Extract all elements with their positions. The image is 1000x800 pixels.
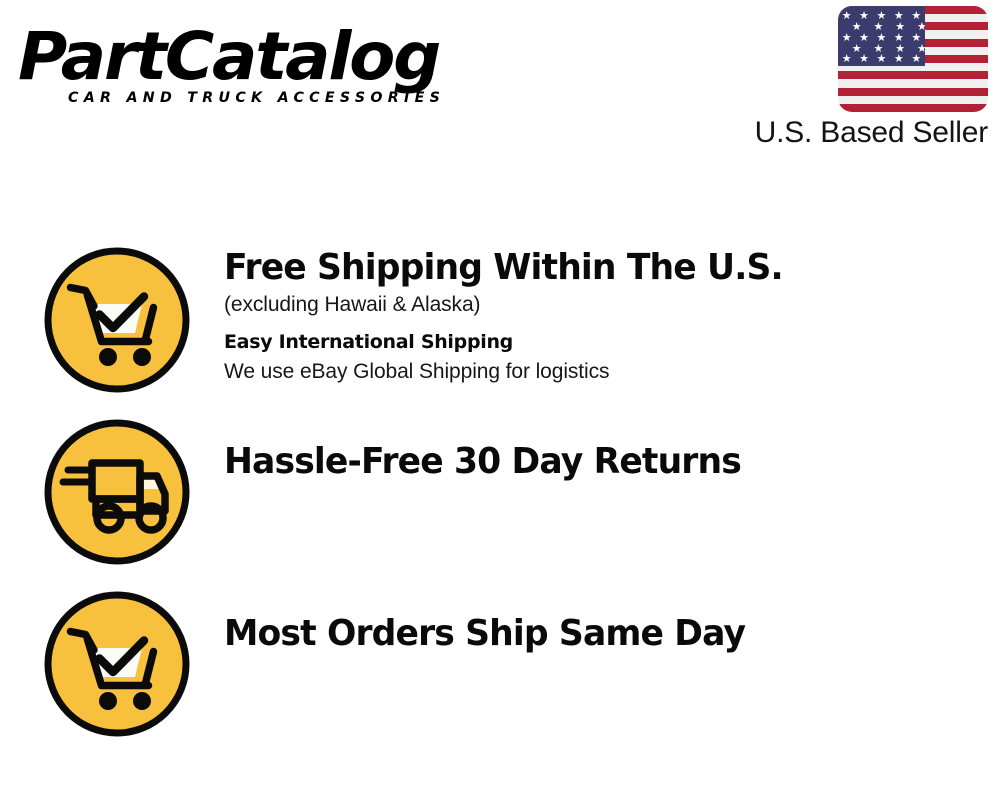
returns-text-block: Hassle-Free 30 Day Returns <box>193 416 1000 484</box>
flag-canton: ★★★★★ ★★★★ ★★★★★ ★★★★ ★★★★★ <box>838 6 925 66</box>
free-shipping-title: Free Shipping Within The U.S. <box>224 246 969 290</box>
same-day-text-block: Most Orders Ship Same Day <box>193 588 1000 656</box>
free-shipping-text-block: Free Shipping Within The U.S. (excluding… <box>193 244 1000 387</box>
seller-badge-label: U.S. Based Seller <box>718 116 988 150</box>
same-day-title: Most Orders Ship Same Day <box>224 612 969 656</box>
promo-banner: PartCatalog CAR AND TRUCK ACCESSORIES ★★… <box>0 0 1000 800</box>
international-shipping-title: Easy International Shipping <box>224 327 1000 357</box>
cart-check-icon <box>41 588 193 740</box>
brand-logo[interactable]: PartCatalog CAR AND TRUCK ACCESSORIES <box>18 18 498 118</box>
international-shipping-note: We use eBay Global Shipping for logistic… <box>224 357 1000 387</box>
returns-title: Hassle-Free 30 Day Returns <box>224 440 969 484</box>
brand-tagline: CAR AND TRUCK ACCESSORIES <box>68 90 445 106</box>
cart-check-icon <box>41 244 193 396</box>
feature-row-returns: Hassle-Free 30 Day Returns <box>0 416 1000 568</box>
brand-wordmark: PartCatalog <box>18 14 439 100</box>
delivery-truck-icon <box>41 416 193 568</box>
us-flag-icon: ★★★★★ ★★★★ ★★★★★ ★★★★ ★★★★★ <box>838 6 988 112</box>
feature-row-free-shipping: Free Shipping Within The U.S. (excluding… <box>0 244 1000 396</box>
free-shipping-note: (excluding Hawaii & Alaska) <box>224 290 1000 320</box>
feature-row-same-day-shipping: Most Orders Ship Same Day <box>0 588 1000 740</box>
us-based-seller-badge: ★★★★★ ★★★★ ★★★★★ ★★★★ ★★★★★ U.S. Based S… <box>718 6 988 150</box>
